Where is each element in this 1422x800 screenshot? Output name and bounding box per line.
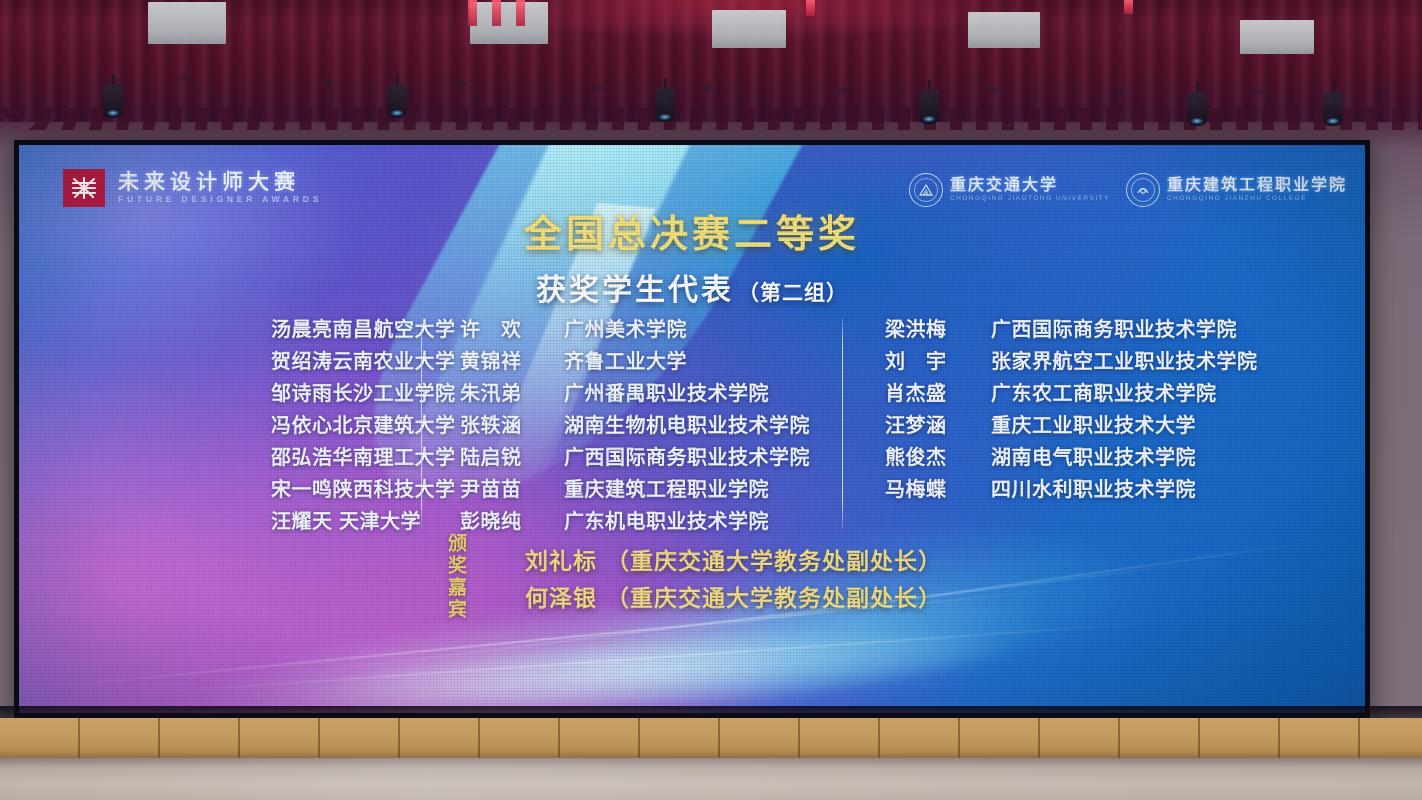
brand-text-block: 未来设计师大赛 FUTURE DESIGNER AWARDS [118, 172, 322, 204]
ceiling-fixture [452, 80, 470, 88]
partner-name-en: CHONGQING JIAOTONG UNIVERSITY [950, 196, 1110, 203]
ceiling-fixture [102, 76, 120, 84]
winner-school: 天津大学 [339, 505, 421, 534]
winner-row: 汪梦涵重庆工业职业技术大学 [885, 409, 1273, 441]
stage-spotlight-icon [387, 84, 407, 118]
partner-logo-college: 重庆建筑工程职业学院 CHONGQING JIANZHU COLLEGE [1126, 173, 1347, 207]
winner-row: 黄锦祥齐鲁工业大学 [460, 345, 842, 377]
led-screen-content: 未来设计师大赛 FUTURE DESIGNER AWARDS 重庆交通大学 [19, 145, 1365, 713]
winner-school: 张家界航空工业职业技术学院 [991, 345, 1258, 374]
red-lamp-icon [1124, 0, 1133, 14]
winner-row: 肖杰盛广东农工商职业技术学院 [885, 377, 1273, 409]
auditorium-stage-scene: 未来设计师大赛 FUTURE DESIGNER AWARDS 重庆交通大学 [0, 0, 1422, 800]
university-seal-icon [909, 173, 943, 207]
winner-name: 尹苗苗 [460, 473, 564, 502]
ceiling-fixture [1112, 88, 1130, 96]
winner-row: 朱汛弟广州番禺职业技术学院 [460, 377, 842, 409]
winner-row: 冯依心北京建筑大学 [271, 409, 421, 441]
red-lamp-icon [492, 0, 501, 26]
presenters-inner: 颁奖嘉宾 刘礼标（重庆交通大学教务处副处长）何泽银（重庆交通大学教务处副处长） [442, 533, 942, 621]
winner-name: 朱汛弟 [460, 377, 564, 406]
slide-subtitle: 获奖学生代表 [536, 265, 734, 309]
winner-row: 贺绍涛云南农业大学 [271, 345, 421, 377]
winner-school: 广东机电职业技术学院 [564, 505, 769, 534]
winner-name: 冯依心 [271, 409, 333, 438]
truss-light-panel [712, 10, 786, 48]
partner-name-cn: 重庆建筑工程职业学院 [1167, 178, 1347, 194]
winner-row: 许 欢广州美术学院 [460, 313, 842, 345]
led-screen-bezel: 未来设计师大赛 FUTURE DESIGNER AWARDS 重庆交通大学 [14, 140, 1370, 718]
winner-row: 尹苗苗重庆建筑工程职业学院 [460, 473, 842, 505]
stage-apron-wood [0, 718, 1422, 760]
winner-name: 邹诗雨 [271, 377, 333, 406]
brand-name-en: FUTURE DESIGNER AWARDS [118, 195, 322, 204]
winner-school: 重庆建筑工程职业学院 [564, 473, 769, 502]
stage-spotlight-icon [103, 84, 123, 118]
winner-row: 张轶涵湖南生物机电职业技术学院 [460, 409, 842, 441]
partner-name-cn: 重庆交通大学 [950, 178, 1110, 194]
winner-name: 黄锦祥 [460, 345, 564, 374]
future-designer-logo-icon [63, 169, 105, 207]
winner-name: 熊俊杰 [885, 441, 991, 470]
partner-name-en: CHONGQING JIANZHU COLLEGE [1167, 196, 1347, 203]
slide-subtitle-row: 获奖学生代表 （第二组） [19, 265, 1365, 309]
apron-panel-seams [0, 718, 1422, 760]
slide-subtitle-group: （第二组） [738, 277, 848, 307]
truss-light-panel [1240, 20, 1314, 54]
presenter-list: 刘礼标（重庆交通大学教务处副处长）何泽银（重庆交通大学教务处副处长） [525, 542, 942, 613]
presenter-name: 何泽银 [525, 585, 597, 611]
ceiling-fixture [1372, 88, 1390, 96]
winner-name: 贺绍涛 [271, 345, 333, 374]
truss-light-panel [148, 2, 226, 44]
presenter-row: 何泽银（重庆交通大学教务处副处长） [525, 579, 942, 613]
truss-light-panel [470, 2, 548, 44]
winner-name: 许 欢 [460, 313, 564, 342]
winner-row: 刘 宇张家界航空工业职业技术学院 [885, 345, 1273, 377]
winners-column-3: 梁洪梅广西国际商务职业技术学院刘 宇张家界航空工业职业技术学院肖杰盛广东农工商职… [843, 313, 1273, 505]
event-brand-lockup: 未来设计师大赛 FUTURE DESIGNER AWARDS [63, 169, 322, 207]
partner-name-block: 重庆建筑工程职业学院 CHONGQING JIANZHU COLLEGE [1167, 178, 1347, 203]
red-lamp-icon [516, 0, 525, 26]
winner-school: 广州美术学院 [564, 313, 687, 342]
winner-name: 汤晨亮 [271, 313, 333, 342]
truss-light-panel [968, 12, 1040, 48]
partner-logo-university: 重庆交通大学 CHONGQING JIAOTONG UNIVERSITY [909, 173, 1110, 207]
presenters-block: 颁奖嘉宾 刘礼标（重庆交通大学教务处副处长）何泽银（重庆交通大学教务处副处长） [19, 533, 1365, 621]
ceiling-fixture [984, 86, 1002, 94]
winners-column-2: 许 欢广州美术学院黄锦祥齐鲁工业大学朱汛弟广州番禺职业技术学院张轶涵湖南生物机电… [422, 313, 842, 537]
winner-row: 汤晨亮南昌航空大学 [271, 313, 421, 345]
winner-name: 邵弘浩 [271, 441, 333, 470]
partner-name-block: 重庆交通大学 CHONGQING JIAOTONG UNIVERSITY [950, 178, 1110, 203]
winners-column-1: 汤晨亮南昌航空大学贺绍涛云南农业大学邹诗雨长沙工业学院冯依心北京建筑大学邵弘浩华… [111, 313, 421, 537]
curtain-scallop-edge [0, 108, 1422, 130]
winner-name: 张轶涵 [460, 409, 564, 438]
winner-name: 陆启锐 [460, 441, 564, 470]
winner-row: 邵弘浩华南理工大学 [271, 441, 421, 473]
winner-name: 肖杰盛 [885, 377, 991, 406]
presenter-title: （重庆交通大学教务处副处长） [606, 548, 942, 574]
award-title: 全国总决赛二等奖 [19, 213, 1365, 258]
winner-school: 广州番禺职业技术学院 [564, 377, 769, 406]
winner-name: 梁洪梅 [885, 313, 991, 342]
winner-school: 四川水利职业技术学院 [991, 473, 1196, 502]
winner-row: 宋一鸣陕西科技大学 [271, 473, 421, 505]
presenter-label: 颁奖嘉宾 [442, 533, 469, 621]
winner-name: 马梅蝶 [885, 473, 991, 502]
slide-heading-block: 全国总决赛二等奖 获奖学生代表 （第二组） [19, 213, 1365, 309]
winner-row: 梁洪梅广西国际商务职业技术学院 [885, 313, 1273, 345]
winner-school: 重庆工业职业技术大学 [991, 409, 1196, 438]
winner-school: 广东农工商职业技术学院 [991, 377, 1217, 406]
winner-name: 汪耀天 [271, 505, 339, 534]
partner-logo-row: 重庆交通大学 CHONGQING JIAOTONG UNIVERSITY 重庆建… [909, 173, 1347, 207]
winner-name: 宋一鸣 [271, 473, 333, 502]
ceiling-fixture [700, 84, 718, 92]
winner-name: 彭晓纯 [460, 505, 564, 534]
winner-row: 熊俊杰湖南电气职业技术学院 [885, 441, 1273, 473]
presenter-title: （重庆交通大学教务处副处长） [606, 585, 942, 611]
red-lamp-icon [806, 0, 815, 16]
winners-list: 汤晨亮南昌航空大学贺绍涛云南农业大学邹诗雨长沙工业学院冯依心北京建筑大学邵弘浩华… [19, 313, 1365, 537]
stage-spotlight-icon [1187, 92, 1207, 126]
ceiling-fixture [1248, 88, 1266, 96]
ceiling-fixture [320, 78, 338, 86]
winner-name: 刘 宇 [885, 345, 991, 374]
winner-school: 广西国际商务职业技术学院 [564, 441, 810, 470]
brand-name-cn: 未来设计师大赛 [118, 172, 322, 193]
winner-name: 汪梦涵 [885, 409, 991, 438]
winner-school: 齐鲁工业大学 [564, 345, 687, 374]
stage-floor-sheen [0, 758, 1422, 800]
wave-stroke [140, 621, 1158, 694]
winner-school: 广西国际商务职业技术学院 [991, 313, 1237, 342]
ceiling-fixture [176, 74, 194, 82]
stage-spotlight-icon [655, 88, 675, 122]
winner-school: 湖南生物机电职业技术学院 [564, 409, 810, 438]
ceiling-fixture [588, 84, 606, 92]
college-seal-icon [1126, 173, 1160, 207]
presenter-row: 刘礼标（重庆交通大学教务处副处长） [525, 542, 942, 576]
stage-spotlight-icon [1323, 92, 1343, 126]
presenter-name: 刘礼标 [525, 548, 597, 574]
winner-row: 邹诗雨长沙工业学院 [271, 377, 421, 409]
winner-row: 陆启锐广西国际商务职业技术学院 [460, 441, 842, 473]
winner-school: 湖南电气职业技术学院 [991, 441, 1196, 470]
ceiling-fixture [836, 86, 854, 94]
stage-spotlight-icon [919, 90, 939, 124]
red-lamp-icon [468, 0, 477, 26]
winner-row: 马梅蝶四川水利职业技术学院 [885, 473, 1273, 505]
